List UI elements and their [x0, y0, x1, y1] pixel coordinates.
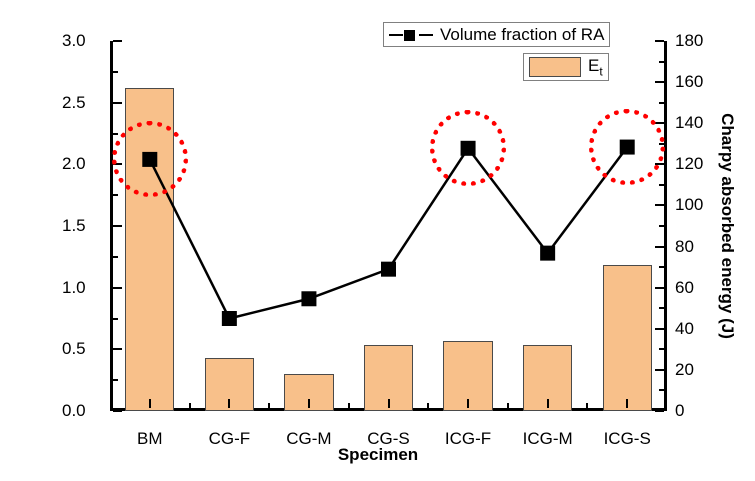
- x-minor-tick-6: [586, 403, 588, 408]
- y-right-tick-20: [655, 369, 664, 371]
- y-right-tick-label-80: 80: [675, 237, 694, 257]
- legend-item-absorbed-energy[interactable]: Et: [523, 53, 609, 81]
- x-tick-bm: [149, 399, 151, 408]
- x-tick-icg-s: [626, 399, 628, 408]
- plot-area: [110, 41, 667, 411]
- y-right-tick-100: [655, 204, 664, 206]
- marker-cg-m: [301, 291, 316, 306]
- x-tick-label-icg-m: ICG-M: [523, 429, 573, 449]
- legend-item-volume-fraction[interactable]: Volume fraction of RA: [383, 22, 610, 47]
- legend-label-absorbed-energy-base: E: [588, 56, 599, 75]
- y-right-minor-tick-7: [659, 102, 664, 104]
- y-left-tick-label-2.0: 2.0: [62, 154, 86, 174]
- y-left-minor-tick-2: [113, 256, 118, 258]
- y-right-minor-tick-4: [659, 225, 664, 227]
- x-minor-tick-4: [427, 403, 429, 408]
- y-right-tick-80: [655, 246, 664, 248]
- y-left-tick-0.5: [113, 348, 122, 350]
- x-tick-cg-f: [228, 399, 230, 408]
- y-right-tick-40: [655, 328, 664, 330]
- y-right-tick-label-0: 0: [675, 401, 684, 421]
- y-left-tick-2.5: [113, 102, 122, 104]
- y-right-tick-label-100: 100: [675, 195, 703, 215]
- y-right-tick-label-140: 140: [675, 113, 703, 133]
- y-left-minor-tick-1: [113, 318, 118, 320]
- y-right-tick-label-120: 120: [675, 154, 703, 174]
- x-minor-tick-3: [348, 403, 350, 408]
- y-right-minor-tick-3: [659, 266, 664, 268]
- y-right-minor-tick-5: [659, 184, 664, 186]
- y-left-minor-tick-5: [113, 71, 118, 73]
- line-series-path: [150, 147, 627, 318]
- y-left-tick-1.5: [113, 225, 122, 227]
- y-left-tick-label-3.0: 3.0: [62, 31, 86, 51]
- y-left-minor-tick-3: [113, 194, 118, 196]
- x-tick-label-icg-f: ICG-F: [445, 429, 491, 449]
- y-right-minor-tick-2: [659, 307, 664, 309]
- x-tick-icg-m: [547, 399, 549, 408]
- x-minor-tick-2: [268, 403, 270, 408]
- legend-label-absorbed-energy: Et: [588, 56, 603, 78]
- x-tick-cg-m: [308, 399, 310, 408]
- y-right-tick-label-40: 40: [675, 319, 694, 339]
- y-left-minor-tick-0: [113, 379, 118, 381]
- y-right-tick-160: [655, 81, 664, 83]
- y-right-tick-180: [655, 40, 664, 42]
- annotation-circle-icg-s: [589, 109, 665, 185]
- line-series-markers: [142, 140, 634, 326]
- y-left-minor-tick-4: [113, 133, 118, 135]
- x-tick-label-bm: BM: [137, 429, 163, 449]
- y-left-tick-1.0: [113, 287, 122, 289]
- y-left-tick-label-1.5: 1.5: [62, 216, 86, 236]
- annotation-circle-bm: [112, 121, 188, 197]
- y-right-tick-label-60: 60: [675, 278, 694, 298]
- y-left-tick-label-0.5: 0.5: [62, 339, 86, 359]
- y-right-minor-tick-0: [659, 389, 664, 391]
- chart-figure: Volume fraction of RA (%) Charpy absorbe…: [0, 0, 755, 481]
- x-tick-icg-f: [467, 399, 469, 408]
- marker-cg-s: [381, 262, 396, 277]
- annotation-circle-icg-f: [430, 110, 506, 186]
- x-tick-cg-s: [388, 399, 390, 408]
- y-right-tick-label-160: 160: [675, 72, 703, 92]
- y-right-tick-label-20: 20: [675, 360, 694, 380]
- x-minor-tick-5: [507, 403, 509, 408]
- line-marker-icon: [389, 28, 433, 42]
- bar-swatch-icon: [529, 57, 581, 77]
- y-axis-right-title: Charpy absorbed energy (J): [717, 113, 737, 339]
- legend-label-volume-fraction: Volume fraction of RA: [440, 25, 604, 45]
- y-right-minor-tick-1: [659, 348, 664, 350]
- y-left-tick-label-2.5: 2.5: [62, 93, 86, 113]
- x-tick-label-cg-m: CG-M: [286, 429, 331, 449]
- x-tick-label-cg-f: CG-F: [209, 429, 251, 449]
- y-left-tick-label-1.0: 1.0: [62, 278, 86, 298]
- y-right-tick-60: [655, 287, 664, 289]
- y-axis-right-line: [664, 41, 667, 411]
- bar-icg-s: [603, 265, 652, 411]
- x-tick-label-cg-s: CG-S: [367, 429, 410, 449]
- legend-label-absorbed-energy-subscript: t: [599, 64, 602, 78]
- x-tick-label-icg-s: ICG-S: [604, 429, 651, 449]
- marker-icg-m: [540, 246, 555, 261]
- y-right-tick-label-180: 180: [675, 31, 703, 51]
- x-minor-tick-1: [189, 403, 191, 408]
- y-left-tick-0.0: [113, 410, 122, 412]
- y-left-tick-3.0: [113, 40, 122, 42]
- y-right-tick-0: [655, 410, 664, 412]
- marker-cg-f: [222, 311, 237, 326]
- y-left-tick-label-0.0: 0.0: [62, 401, 86, 421]
- y-right-minor-tick-8: [659, 61, 664, 63]
